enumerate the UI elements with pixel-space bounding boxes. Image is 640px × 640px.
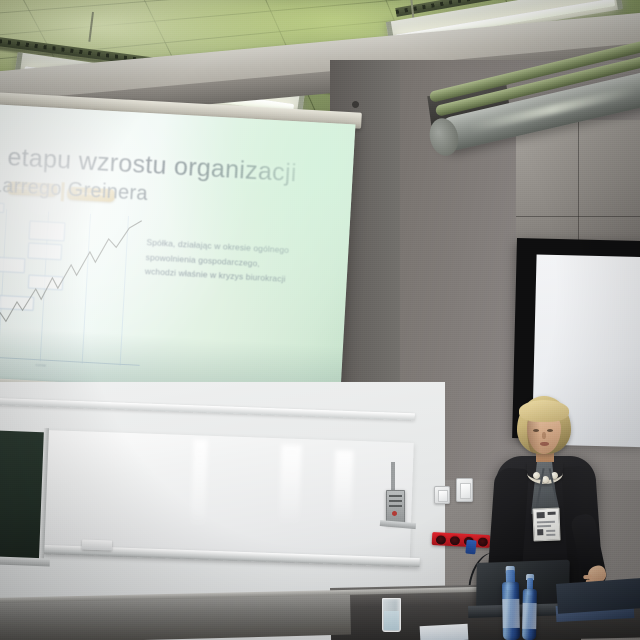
water-bottle-2[interactable]	[522, 574, 537, 640]
blue-power-plug[interactable]	[465, 540, 476, 555]
water-glass-liquid	[384, 611, 399, 630]
water-glass[interactable]	[382, 598, 401, 632]
control-panel-stem	[391, 462, 395, 492]
presenter-eye-right	[547, 429, 553, 432]
presenter-nose	[542, 432, 546, 439]
presenter-eye-left	[533, 429, 539, 432]
concrete-panel	[516, 120, 640, 250]
water-bottle-1[interactable]	[502, 566, 520, 640]
control-panel-knob[interactable]	[392, 511, 397, 516]
slide-body-text: Spółka, działając w okresie ogólnego spo…	[144, 235, 326, 289]
projection-screen: wiek organizacji rozmiar Kryzys przywódz…	[0, 104, 355, 402]
chalkboard-tray	[0, 556, 50, 567]
slide-chart: wiek organizacji rozmiar	[0, 202, 142, 372]
conference-name-badge	[532, 508, 560, 542]
light-switch-double[interactable]	[456, 478, 473, 502]
table-papers[interactable]	[420, 624, 469, 640]
presenter-mouth	[540, 442, 549, 446]
pearl-1	[533, 472, 540, 479]
screen-bloom	[143, 104, 355, 346]
light-switch-single[interactable]	[434, 486, 450, 504]
projector-control-panel[interactable]	[386, 490, 405, 525]
second-laptop[interactable]	[556, 578, 640, 614]
growth-curve	[0, 202, 148, 371]
presenter-hair-fringe	[519, 400, 569, 422]
whiteboard-eraser[interactable]	[82, 539, 112, 550]
photo-scene: wiek organizacji rozmiar Kryzys przywódz…	[0, 0, 640, 640]
